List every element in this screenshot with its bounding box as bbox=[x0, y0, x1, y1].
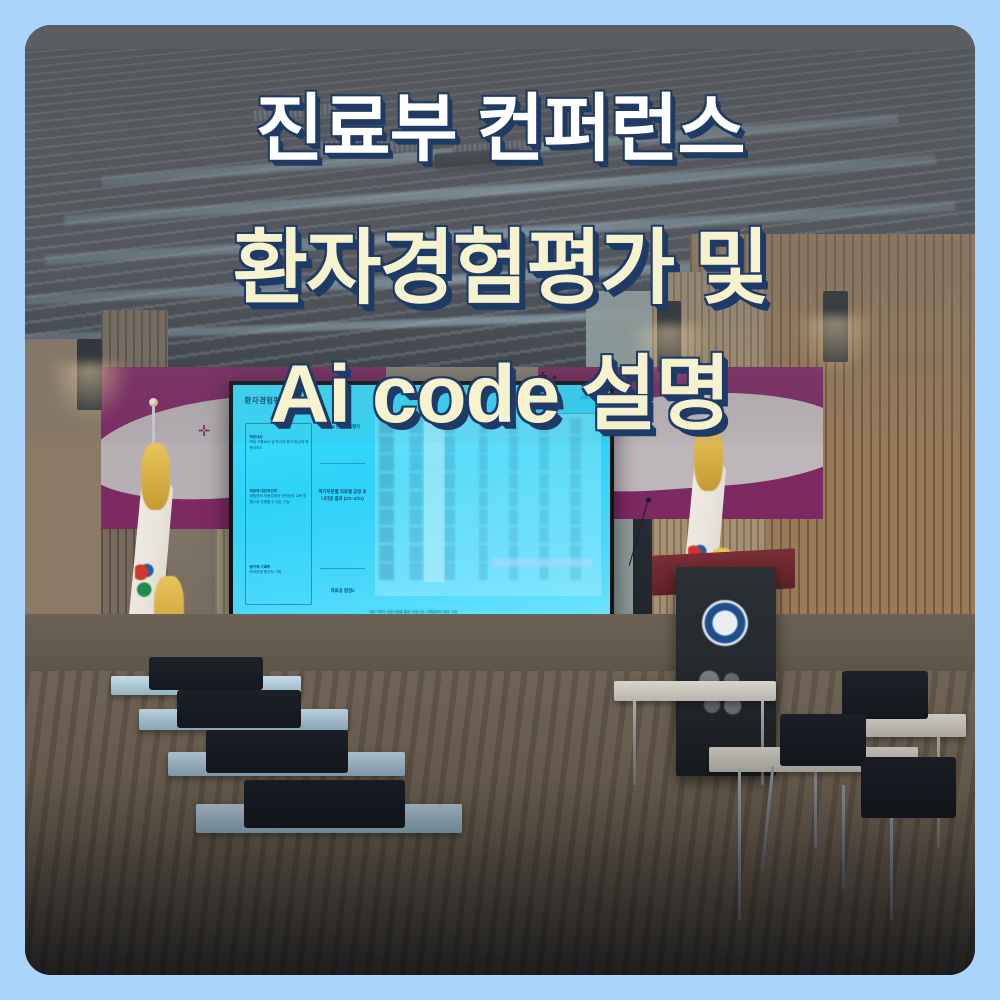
wall-sconce-light bbox=[657, 301, 682, 372]
chair bbox=[861, 757, 956, 819]
slide-header: 환자경험평가 bbox=[245, 395, 288, 406]
medical-cross-icon: ✛ bbox=[198, 422, 211, 440]
table-row bbox=[379, 527, 596, 543]
slide-bullet: 적용적 대인력인력 경험관리 적용검체의 인력양성 교육 방향으로 진행할 수 … bbox=[249, 489, 308, 506]
chair-arm bbox=[842, 785, 845, 890]
slide-data-table bbox=[375, 413, 601, 596]
chair bbox=[244, 780, 406, 828]
table-row bbox=[379, 436, 596, 452]
slide-bullet-body: 조직운영 평가적 기록 bbox=[249, 570, 281, 574]
slide-divider bbox=[320, 568, 365, 569]
table-leg bbox=[633, 700, 636, 786]
conference-photo: ✛ ✛ ✛ ✛ bbox=[25, 25, 975, 975]
auditorium-scene: ✛ ✛ ✛ ✛ bbox=[25, 25, 975, 975]
table-row bbox=[379, 454, 596, 470]
slide-section-number: 01 bbox=[297, 385, 304, 389]
table-row bbox=[379, 491, 596, 507]
flag-tassel bbox=[141, 443, 170, 510]
table-row bbox=[379, 473, 596, 489]
flag-emblem bbox=[135, 556, 156, 604]
conference-table bbox=[614, 681, 776, 702]
flag-tassel bbox=[694, 424, 723, 491]
slide-top-note: 진료부회의 bbox=[580, 395, 598, 401]
table-leg bbox=[738, 768, 741, 920]
chair bbox=[177, 690, 301, 728]
slide-bullet-box: 적용대상 백점 구할요소 및 투시권 평가 중심적 적용처리도 적용적 대인력인… bbox=[245, 423, 313, 606]
slide-bullet-body: 경험관리 적용검체의 인력양성 교육 방향으로 진행할 수 있는 기능 bbox=[249, 494, 306, 504]
table-row bbox=[379, 509, 596, 525]
table-leg bbox=[761, 700, 764, 786]
slide-divider bbox=[320, 463, 365, 464]
slide-bullet-body: 백점 구할요소 및 투시권 평가 중심적 적용처리도 bbox=[249, 440, 308, 450]
slide-column-label: 2024 환자경험평가 bbox=[318, 423, 367, 430]
projected-slide: 01 환자경험평가 진료부회의 적용대상 백점 구할요소 및 투시권 평가 중심… bbox=[233, 385, 610, 619]
slide-bullet: 적용대상 백점 구할요소 및 투시권 평가 중심적 적용처리도 bbox=[249, 435, 308, 452]
slide-column-label: 적기부문별 자료별 공정 모니터링 결과 (2/1~2/21) bbox=[318, 488, 367, 502]
wall-sconce-light bbox=[823, 291, 848, 362]
wall-sconce-light bbox=[77, 339, 102, 410]
chair bbox=[206, 730, 349, 773]
table-row bbox=[379, 418, 596, 434]
chair bbox=[780, 714, 866, 766]
slide-bullet: 평가적 기록부 조직운영 평가적 기록 bbox=[249, 565, 308, 576]
post-card: ✛ ✛ ✛ ✛ bbox=[0, 0, 1000, 1000]
projection-screen: 01 환자경험평가 진료부회의 적용대상 백점 구할요소 및 투시권 평가 중심… bbox=[229, 381, 614, 623]
chair bbox=[842, 671, 928, 719]
slide-column-label: 자료공 점검2 bbox=[318, 587, 367, 594]
table-highlight-row bbox=[492, 558, 591, 567]
chair bbox=[149, 657, 263, 690]
hospital-crest-icon bbox=[702, 600, 748, 646]
